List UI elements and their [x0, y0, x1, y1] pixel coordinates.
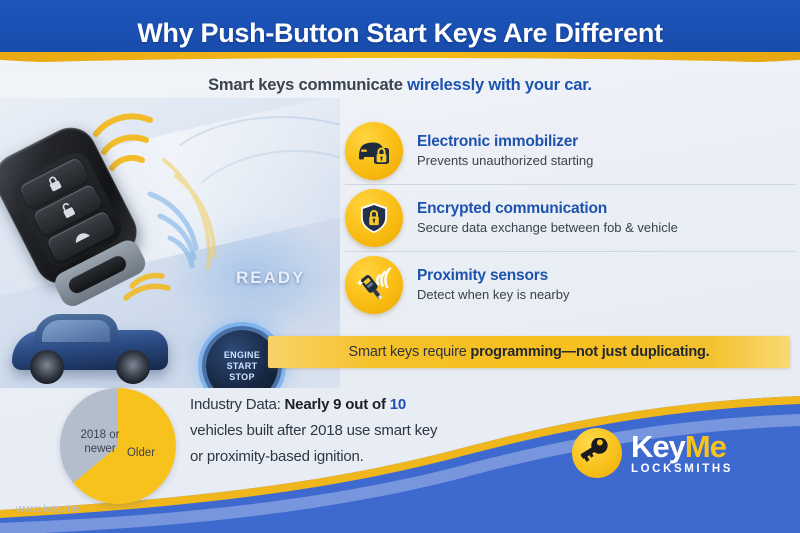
- car-wheel-rear: [116, 350, 150, 384]
- feature-title: Electronic immobilizer: [417, 132, 593, 151]
- car-lock-glyph: [356, 135, 392, 167]
- stat-lead: Industry Data:: [190, 396, 285, 413]
- logo-me: Me: [685, 429, 726, 464]
- key-glyph: [580, 438, 614, 468]
- car-illustration: [8, 312, 173, 384]
- feature-title: Encrypted communication: [417, 199, 678, 218]
- feature-desc: Prevents unauthorized starting: [417, 152, 593, 170]
- subtitle-accent: wirelessly with your car.: [407, 76, 592, 94]
- feature-item-immobilizer: Electronic immobilizer Prevents unauthor…: [345, 118, 795, 185]
- logo-wordmark: KeyMe LOCKSMITHS: [631, 431, 733, 476]
- key-fob-signal-glyph: [354, 267, 394, 303]
- car-wheel-front: [30, 350, 64, 384]
- site-watermark: www.key.me: [16, 503, 80, 515]
- lock-glyph: [44, 173, 64, 194]
- infographic-root: Why Push-Button Start Keys Are Different…: [0, 0, 800, 533]
- industry-stat: Industry Data: Nearly 9 out of 10 vehicl…: [190, 392, 440, 470]
- feature-text: Encrypted communication Secure data exch…: [417, 199, 678, 237]
- wave-arc-top-1: [96, 116, 150, 134]
- subtitle-plain: Smart keys communicate: [208, 76, 407, 94]
- feature-item-proximity: Proximity sensors Detect when key is nea…: [345, 252, 795, 318]
- logo-tagline: LOCKSMITHS: [631, 464, 733, 476]
- stat-number: 10: [390, 396, 406, 413]
- shield-lock-icon: [345, 189, 403, 247]
- key-fob-signal-icon: [345, 256, 403, 314]
- callout-banner: Smart keys require programming—not just …: [268, 336, 790, 368]
- pie-label-older: Older: [118, 446, 164, 460]
- feature-text: Electronic immobilizer Prevents unauthor…: [417, 132, 593, 170]
- feature-desc: Detect when key is nearby: [417, 286, 569, 304]
- unlock-glyph: [58, 200, 78, 221]
- page-subtitle: Smart keys communicate wirelessly with y…: [0, 76, 800, 95]
- key-icon: [572, 428, 622, 478]
- callout-bold: programming—not just duplicating.: [470, 344, 709, 360]
- feature-title: Proximity sensors: [417, 266, 569, 285]
- wave-arc-top-3: [112, 158, 142, 168]
- stat-rest: vehicles built after 2018 use smart key …: [190, 422, 437, 465]
- feature-list: Electronic immobilizer Prevents unauthor…: [345, 118, 795, 318]
- car-window: [42, 320, 110, 342]
- pie-label-older-text: Older: [127, 447, 155, 459]
- pie-label-newer-text: 2018 or newer: [80, 429, 119, 455]
- pie-chart: 2018 or newer Older: [60, 388, 180, 504]
- stat-bold-a: Nearly 9 out of: [285, 396, 386, 413]
- feature-item-encryption: Encrypted communication Secure data exch…: [345, 185, 795, 252]
- keyme-logo[interactable]: KeyMe LOCKSMITHS: [572, 428, 733, 478]
- page-title: Why Push-Button Start Keys Are Different: [0, 18, 800, 49]
- logo-key: Key: [631, 429, 685, 464]
- car-lock-icon: [345, 122, 403, 180]
- logo-name: KeyMe: [631, 431, 733, 462]
- feature-text: Proximity sensors Detect when key is nea…: [417, 266, 569, 304]
- feature-desc: Secure data exchange between fob & vehic…: [417, 219, 678, 237]
- wave-arc-top-2: [104, 138, 146, 152]
- trunk-glyph: [70, 227, 93, 247]
- callout-plain: Smart keys require: [348, 344, 470, 360]
- shield-lock-glyph: [358, 201, 390, 235]
- header-white-cap: [0, 58, 800, 70]
- callout-text: Smart keys require programming—not just …: [348, 344, 709, 360]
